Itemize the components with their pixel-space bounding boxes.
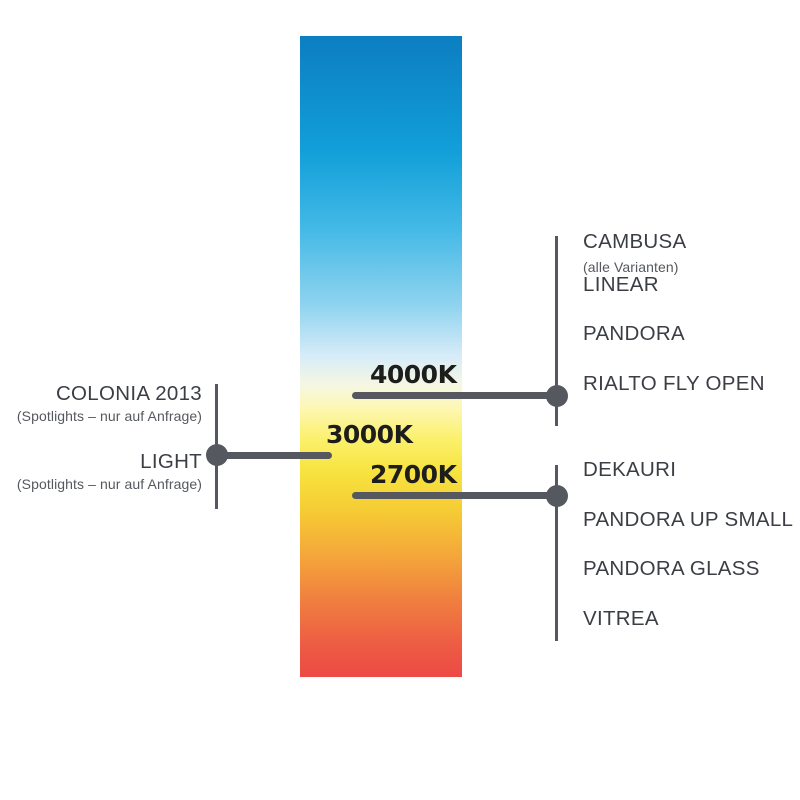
product-cambusa: CAMBUSA (583, 232, 798, 253)
product-pandora-up-small: PANDORA UP SMALL (583, 510, 798, 531)
product-colonia-2013: COLONIA 2013 (0, 384, 202, 405)
color-temperature-diagram: 4000K 3000K 2700K CAMBUSA (alle Variante… (0, 0, 800, 800)
connector-2700k (352, 492, 560, 499)
kelvin-gradient-bar (300, 36, 462, 677)
connector-4000k (352, 392, 560, 399)
product-group-2700k: DEKAURI PANDORA UP SMALL PANDORA GLASS V… (583, 460, 798, 658)
kelvin-label-4000k: 4000K (370, 360, 456, 389)
product-vitrea: VITREA (583, 609, 798, 630)
kelvin-label-2700k: 2700K (370, 460, 456, 489)
product-rialto-fly-open: RIALTO FLY OPEN (583, 374, 798, 395)
product-pandora: PANDORA (583, 324, 798, 345)
connector-3000k (214, 452, 332, 459)
product-pandora-glass: PANDORA GLASS (583, 559, 798, 580)
node-dot-2700k (546, 485, 568, 507)
product-colonia-2013-note: (Spotlights – nur auf Anfrage) (0, 408, 202, 424)
node-dot-4000k (546, 385, 568, 407)
product-dekauri: DEKAURI (583, 460, 798, 481)
product-light-note: (Spotlights – nur auf Anfrage) (0, 476, 202, 492)
product-linear: LINEAR (583, 275, 798, 296)
product-group-colonia: COLONIA 2013 (Spotlights – nur auf Anfra… (0, 384, 202, 424)
node-dot-3000k (206, 444, 228, 466)
product-light: LIGHT (0, 452, 202, 473)
product-group-light: LIGHT (Spotlights – nur auf Anfrage) (0, 452, 202, 492)
kelvin-label-3000k: 3000K (326, 420, 412, 449)
product-group-4000k: CAMBUSA (alle Varianten) LINEAR PANDORA … (583, 232, 798, 423)
